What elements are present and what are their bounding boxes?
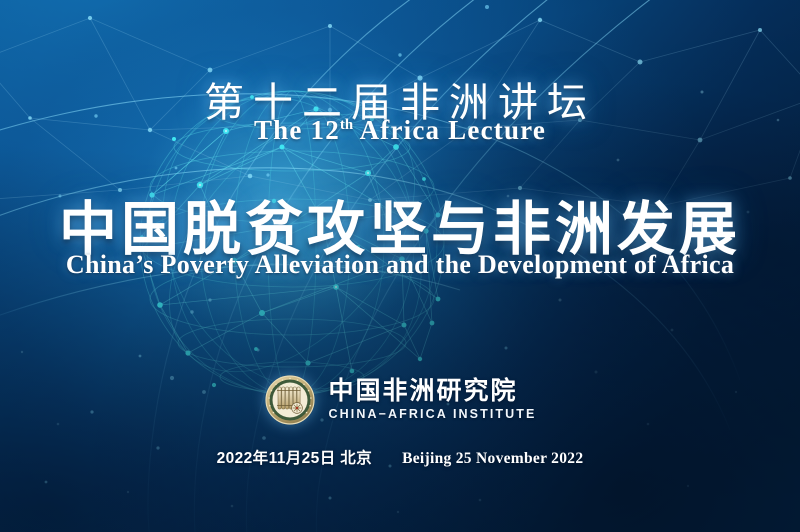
poster-canvas: 第十二届非洲讲坛 The 12th Africa Lecture 中国脱贫攻坚与… [0, 0, 800, 532]
organizer-name-en: CHINA−AFRICA INSTITUTE [329, 408, 537, 421]
main-title-en: China’s Poverty Alleviation and the Deve… [0, 250, 800, 280]
event-date-en: Beijing 25 November 2022 [402, 450, 583, 468]
forum-title-en-suffix: Africa Lecture [353, 115, 546, 145]
organizer-lockup: 中国非洲研究院 CHINA−AFRICA INSTITUTE [0, 374, 800, 426]
organizer-name-cn: 中国非洲研究院 [329, 379, 537, 405]
forum-title-en-prefix: The 12 [254, 115, 340, 145]
poster-content: 第十二届非洲讲坛 The 12th Africa Lecture 中国脱贫攻坚与… [0, 0, 800, 532]
event-date-cn: 2022年11月25日 北京 [217, 446, 373, 468]
china-africa-institute-emblem-icon [264, 374, 316, 426]
forum-title-en: The 12th Africa Lecture [0, 115, 800, 146]
forum-title-en-ordinal: th [340, 117, 353, 133]
event-datebar: 2022年11月25日 北京 Beijing 25 November 2022 [0, 446, 800, 468]
organizer-text: 中国非洲研究院 CHINA−AFRICA INSTITUTE [329, 379, 537, 420]
